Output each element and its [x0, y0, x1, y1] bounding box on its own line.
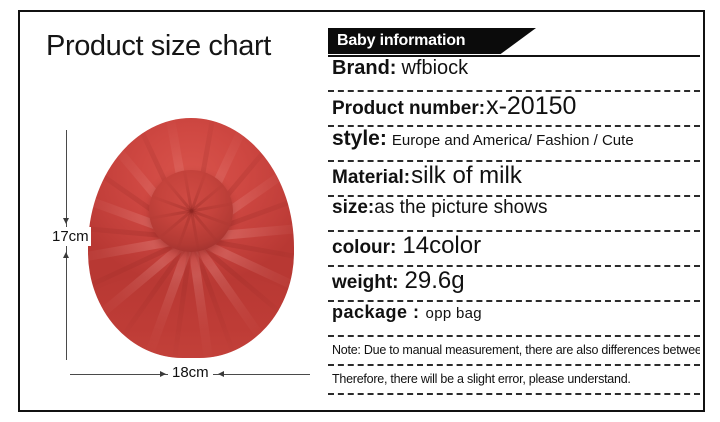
info-row-brand: Brand: wfbiock [328, 57, 700, 90]
info-value-package: opp bag [426, 305, 482, 322]
hat-knot [149, 170, 233, 252]
info-value-style: Europe and America/ Fashion / Cute [392, 132, 634, 149]
info-value-brand: wfbiock [401, 57, 468, 80]
info-row-product-number: Product number: x-20150 [328, 92, 700, 125]
info-value-weight: 29.6g [405, 267, 465, 295]
info-row-material: Material: silk of milk [328, 162, 700, 195]
info-label-brand: Brand: [332, 57, 396, 80]
info-value-product-number: x-20150 [486, 92, 576, 121]
hat-shading [88, 272, 294, 358]
height-arrow-bottom-icon [63, 252, 69, 258]
divider-dashed [328, 393, 700, 395]
width-arrow-right-icon [218, 371, 224, 377]
page-title: Product size chart [46, 30, 271, 63]
info-label-product-number: Product number: [332, 98, 485, 120]
note-line-1: Note: Due to manual measurement, there a… [328, 337, 700, 364]
note-text-1: Note: Due to manual measurement, there a… [332, 343, 700, 357]
width-dimension-label: 18cm [168, 364, 213, 381]
section-banner: Baby information [328, 28, 536, 54]
info-row-size: size: as the picture shows [328, 197, 700, 230]
section-banner-label: Baby information [328, 32, 465, 50]
info-row-weight: weight: 29.6g [328, 267, 700, 300]
info-label-colour: colour: [332, 237, 396, 259]
info-row-style: style: Europe and America/ Fashion / Cut… [328, 127, 700, 160]
info-row-package: package : opp bag [328, 302, 700, 335]
info-row-colour: colour: 14color [328, 232, 700, 265]
info-value-colour: 14color [402, 232, 481, 260]
info-value-size: as the picture shows [374, 197, 547, 219]
info-label-material: Material: [332, 167, 410, 189]
height-dimension-label: 17cm [50, 227, 91, 246]
left-panel: Product size chart [20, 12, 320, 410]
note-text-2: Therefore, there will be a slight error,… [332, 372, 631, 386]
info-label-weight: weight: [332, 272, 399, 294]
note-line-2: Therefore, there will be a slight error,… [328, 366, 700, 393]
height-arrow-top-icon [63, 218, 69, 224]
info-label-size: size: [332, 197, 374, 219]
baby-information-panel: Baby information Brand: wfbiock Product … [328, 28, 700, 395]
info-value-material: silk of milk [411, 162, 522, 190]
info-label-style: style: [332, 127, 387, 151]
info-label-package: package : [332, 302, 420, 323]
width-arrow-left-icon [160, 371, 166, 377]
product-image-hat [76, 110, 306, 362]
product-size-chart-page: Product size chart [0, 0, 720, 422]
